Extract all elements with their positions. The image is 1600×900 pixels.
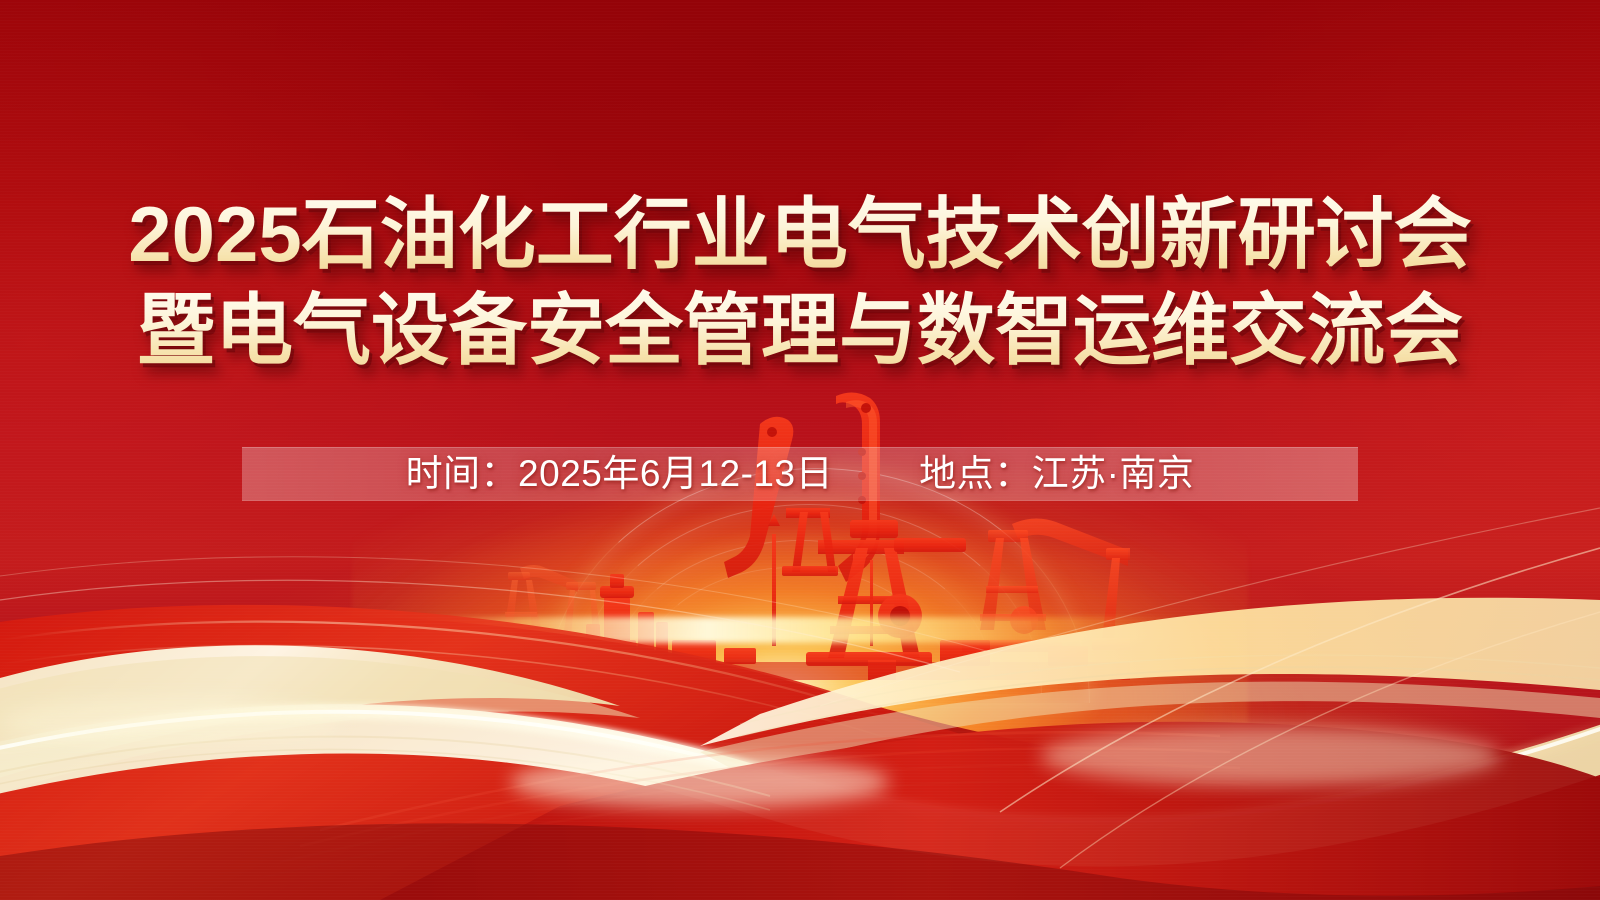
event-location: 地点：江苏·南京 (919, 447, 1194, 501)
event-date: 时间：2025年6月12-13日 (406, 447, 834, 501)
title-line-2: 暨电气设备安全管理与数智运维交流会 (0, 282, 1600, 378)
conference-banner: 2025石油化工行业电气技术创新研讨会 暨电气设备安全管理与数智运维交流会 时间… (0, 0, 1600, 900)
title-line-1: 2025石油化工行业电气技术创新研讨会 (0, 186, 1600, 282)
banner-content: 2025石油化工行业电气技术创新研讨会 暨电气设备安全管理与数智运维交流会 时间… (0, 0, 1600, 900)
page-title: 2025石油化工行业电气技术创新研讨会 暨电气设备安全管理与数智运维交流会 (0, 186, 1600, 378)
info-text-row: 时间：2025年6月12-13日 地点：江苏·南京 (242, 447, 1358, 501)
